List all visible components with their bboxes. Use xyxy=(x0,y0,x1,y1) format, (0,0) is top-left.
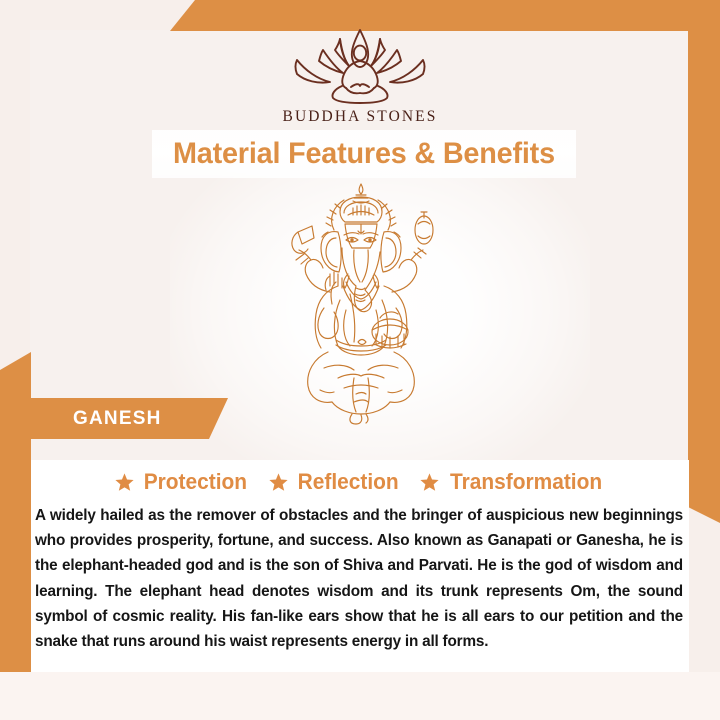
feature-item: Transformation xyxy=(410,469,615,495)
accent-strip-left xyxy=(0,352,31,720)
deity-name-tag: GANESH xyxy=(31,398,228,439)
bottom-tint-band xyxy=(0,672,720,720)
ganesha-deity-illustration xyxy=(268,182,454,426)
star-icon xyxy=(268,472,289,493)
feature-label: Reflection xyxy=(297,469,398,495)
feature-label: Transformation xyxy=(450,469,602,495)
description-paragraph: A widely hailed as the remover of obstac… xyxy=(35,503,683,654)
feature-item: Protection xyxy=(105,469,259,495)
feature-item: Reflection xyxy=(259,469,410,495)
feature-label: Protection xyxy=(144,469,247,495)
infographic-page: BUDDHA STONES Material Features & Benefi… xyxy=(0,0,720,720)
brand-logo-block: BUDDHA STONES xyxy=(0,26,720,126)
title-banner: Material Features & Benefits xyxy=(152,130,576,178)
features-row: Protection Reflection Transformation xyxy=(31,460,689,495)
star-icon xyxy=(419,472,440,493)
star-icon xyxy=(114,472,135,493)
brand-wordmark: BUDDHA STONES xyxy=(0,108,720,126)
deity-name-label: GANESH xyxy=(31,408,162,430)
content-card: Protection Reflection Transformation A w… xyxy=(31,460,689,672)
page-title: Material Features & Benefits xyxy=(173,137,555,171)
lotus-meditation-icon xyxy=(285,26,435,104)
